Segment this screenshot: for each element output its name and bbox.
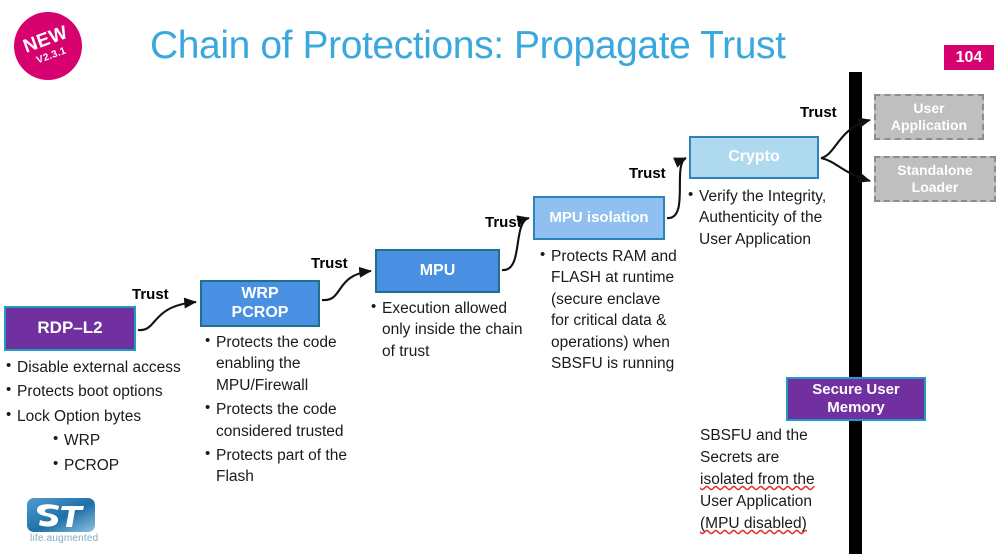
st-logo: life.augmented — [26, 497, 116, 547]
box-standalone-loader[interactable]: Standalone Loader — [874, 156, 996, 202]
box-standalone-loader-line1: Standalone — [897, 162, 972, 179]
bullets-mpu: Execution allowed only inside the chain … — [371, 298, 531, 365]
page-title: Chain of Protections: Propagate Trust — [150, 24, 786, 68]
boundary-separator-bar — [849, 72, 862, 554]
st-logo-tagline: life.augmented — [30, 533, 98, 544]
box-mpu-isolation[interactable]: MPU isolation — [533, 196, 665, 240]
trust-label-crypto-to-app: Trust — [800, 104, 837, 121]
box-user-application[interactable]: User Application — [874, 94, 984, 140]
new-badge-inner: NEW V2.3.1 — [21, 23, 75, 69]
slide-canvas: NEW V2.3.1 Chain of Protections: Propaga… — [0, 0, 999, 554]
new-version-badge: NEW V2.3.1 — [14, 12, 82, 80]
bullets-wrp-pcrop-list: Protects the code enabling the MPU/Firew… — [205, 332, 377, 488]
list-item: Lock Option bytes — [6, 406, 201, 427]
box-secure-user-memory-label: Secure User Memory — [812, 381, 900, 416]
box-wrp-pcrop-label: WRP PCROP — [232, 285, 289, 323]
trust-label-mpu-to-isolation: Trust — [485, 214, 522, 231]
box-wrp-pcrop-line1: WRP — [241, 285, 278, 302]
box-secure-user-memory[interactable]: Secure User Memory — [786, 377, 926, 421]
trust-label-isolation-to-crypto: Trust — [629, 165, 666, 182]
trust-label-rdp-to-wrp: Trust — [132, 286, 169, 303]
list-item: PCROP — [6, 455, 201, 476]
list-item: Protects the code considered trusted — [205, 399, 377, 442]
box-crypto-label: Crypto — [728, 148, 780, 167]
bullets-crypto: Verify the Integrity, Authenticity of th… — [688, 186, 853, 253]
st-logo-mark — [26, 497, 96, 533]
bullets-mpu-isolation-list: Protects RAM and FLASH at runtime (secur… — [540, 246, 680, 374]
box-rdp-l2[interactable]: RDP–L2 — [4, 306, 136, 351]
box-user-application-line2: Application — [891, 117, 967, 134]
box-standalone-loader-line2: Loader — [912, 179, 959, 196]
box-rdp-l2-label: RDP–L2 — [37, 318, 102, 338]
list-item: WRP — [6, 430, 201, 451]
st-logo-tagline-prefix: life. — [30, 533, 47, 544]
bullets-mpu-isolation: Protects RAM and FLASH at runtime (secur… — [540, 246, 680, 377]
list-item: Protects boot options — [6, 381, 201, 402]
bullets-rdp-l2-list: Disable external access Protects boot op… — [6, 357, 201, 476]
page-number-badge: 104 — [944, 45, 994, 70]
list-item: Disable external access — [6, 357, 201, 378]
secure-memory-note-line2: Secrets are — [700, 447, 850, 469]
bullets-rdp-l2: Disable external access Protects boot op… — [6, 357, 201, 479]
st-logo-tagline-suffix: augmented — [47, 533, 99, 544]
box-mpu-label: MPU — [420, 262, 456, 281]
secure-memory-note-line5: (MPU disabled) — [700, 513, 850, 535]
trust-label-wrp-to-mpu: Trust — [311, 255, 348, 272]
bullets-wrp-pcrop: Protects the code enabling the MPU/Firew… — [205, 332, 377, 491]
bullets-crypto-list: Verify the Integrity, Authenticity of th… — [688, 186, 853, 250]
box-user-application-line1: User — [913, 100, 944, 117]
secure-memory-note: SBSFU and the Secrets are isolated from … — [700, 425, 850, 535]
secure-memory-note-line4: User Application — [700, 491, 850, 513]
list-item: Verify the Integrity, Authenticity of th… — [688, 186, 853, 250]
secure-memory-note-line1: SBSFU and the — [700, 425, 850, 447]
box-secure-user-memory-line2: Memory — [827, 399, 885, 416]
list-item: Protects RAM and FLASH at runtime (secur… — [540, 246, 680, 374]
list-item: Protects the code enabling the MPU/Firew… — [205, 332, 377, 396]
box-secure-user-memory-line1: Secure User — [812, 381, 900, 398]
list-item: Protects part of the Flash — [205, 445, 377, 488]
box-wrp-pcrop-line2: PCROP — [232, 304, 289, 321]
bullets-mpu-list: Execution allowed only inside the chain … — [371, 298, 531, 362]
list-item: Execution allowed only inside the chain … — [371, 298, 531, 362]
box-mpu-isolation-label: MPU isolation — [549, 209, 648, 227]
box-mpu[interactable]: MPU — [375, 249, 500, 293]
box-crypto[interactable]: Crypto — [689, 136, 819, 179]
box-wrp-pcrop[interactable]: WRP PCROP — [200, 280, 320, 327]
secure-memory-note-line3: isolated from the — [700, 469, 850, 491]
